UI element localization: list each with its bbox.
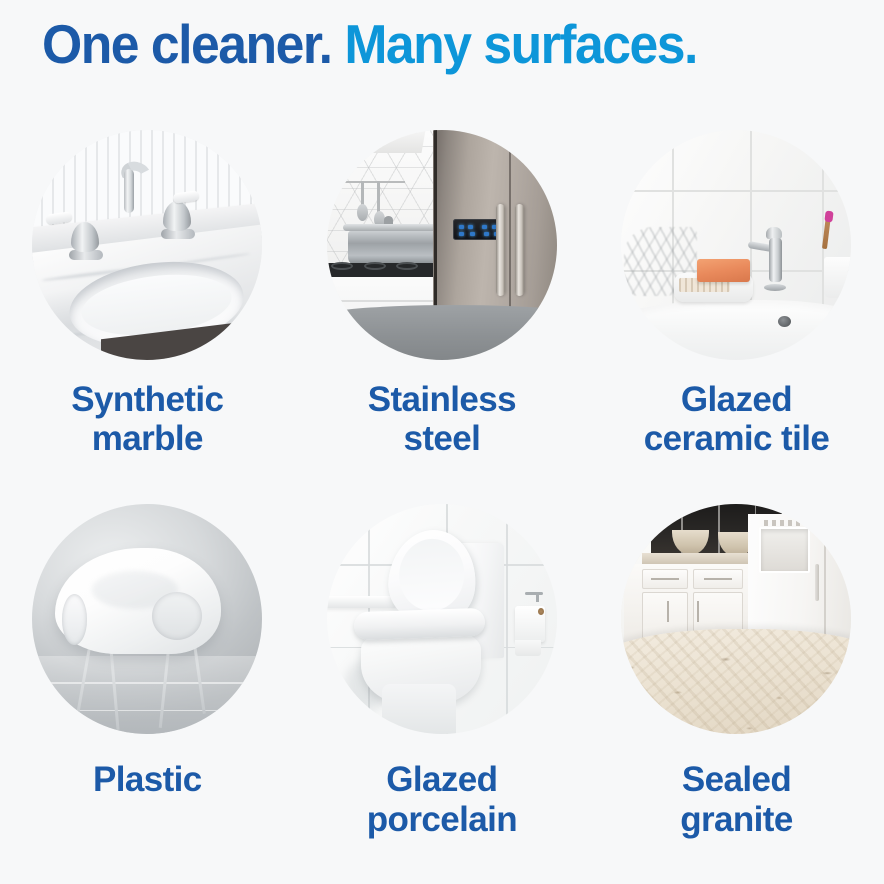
surface-grid: Synthetic marble bbox=[0, 130, 884, 839]
surface-label-glazed-porcelain: Glazed porcelain bbox=[302, 760, 582, 838]
drawer-pull bbox=[704, 578, 732, 580]
stainless-pot bbox=[348, 231, 435, 266]
tile-grout-vertical bbox=[506, 504, 508, 734]
surface-image-plastic bbox=[32, 504, 262, 734]
toilet-pedestal bbox=[382, 684, 456, 735]
label-line-two: ceramic tile bbox=[644, 419, 829, 458]
panel-led bbox=[459, 232, 464, 236]
refrigerator-handle[interactable] bbox=[496, 204, 505, 296]
marble-sink-illustration bbox=[32, 130, 262, 360]
wall-ledge bbox=[327, 596, 396, 608]
ceramic-tile-illustration bbox=[621, 130, 851, 360]
surface-card-plastic[interactable]: Plastic bbox=[0, 504, 295, 838]
plastic-chair-illustration bbox=[32, 504, 262, 734]
porcelain-toilet-illustration bbox=[327, 504, 557, 734]
label-line-two: porcelain bbox=[367, 800, 517, 839]
surface-card-sealed-granite[interactable]: Sealed granite bbox=[589, 504, 884, 838]
surface-label-plastic: Plastic bbox=[7, 760, 287, 799]
label-line-two: marble bbox=[92, 419, 203, 458]
refrigerator-door-split bbox=[509, 130, 511, 319]
surface-card-synthetic-marble[interactable]: Synthetic marble bbox=[0, 130, 295, 458]
panel-led bbox=[468, 225, 473, 229]
panel-led bbox=[484, 232, 489, 236]
stainless-fridge-illustration bbox=[327, 130, 557, 360]
surface-image-stainless-steel bbox=[327, 130, 557, 360]
faucet-lever bbox=[766, 227, 782, 239]
label-line-one: Plastic bbox=[93, 760, 202, 799]
surface-image-sealed-granite bbox=[621, 504, 851, 734]
surface-row-bottom: Plastic bbox=[0, 504, 884, 838]
grout-line-horizontal bbox=[621, 190, 851, 192]
panel-led bbox=[470, 232, 475, 236]
label-line-two: granite bbox=[680, 800, 793, 839]
faucet-spout bbox=[124, 169, 134, 213]
faucet-body bbox=[769, 238, 782, 282]
page-headline: One cleaner. Many surfaces. bbox=[42, 16, 697, 74]
label-line-two: steel bbox=[404, 419, 481, 458]
toilet-seat bbox=[354, 608, 486, 640]
surface-card-glazed-porcelain[interactable]: Glazed porcelain bbox=[295, 504, 590, 838]
toilet-paper-sheet bbox=[515, 640, 540, 656]
soap-bar bbox=[697, 259, 750, 282]
surface-card-glazed-ceramic-tile[interactable]: Glazed ceramic tile bbox=[589, 130, 884, 458]
surface-label-synthetic-marble: Synthetic marble bbox=[7, 380, 287, 458]
label-line-one: Glazed bbox=[386, 760, 497, 799]
grey-countertop bbox=[327, 305, 557, 360]
surface-card-stainless-steel[interactable]: Stainless steel bbox=[295, 130, 590, 458]
panel-led bbox=[459, 225, 464, 229]
sealed-granite-illustration bbox=[621, 504, 851, 734]
range-hood bbox=[338, 130, 426, 153]
label-line-one: Synthetic bbox=[71, 380, 223, 419]
toilet-paper-holder-arm bbox=[536, 592, 539, 602]
label-line-one: Stainless bbox=[368, 380, 516, 419]
surface-label-glazed-ceramic-tile: Glazed ceramic tile bbox=[596, 380, 876, 458]
surface-image-glazed-porcelain bbox=[327, 504, 557, 734]
cabinet-seam bbox=[327, 300, 442, 302]
headline-part-one: One cleaner. bbox=[42, 13, 331, 75]
floor-seam bbox=[32, 710, 262, 712]
floor-surface bbox=[32, 656, 262, 734]
surface-image-synthetic-marble bbox=[32, 130, 262, 360]
toothbrush-cup bbox=[824, 257, 852, 298]
water-dispenser bbox=[759, 527, 810, 573]
surface-label-stainless-steel: Stainless steel bbox=[302, 380, 582, 458]
toothbrush-bristles bbox=[824, 210, 833, 222]
granite-countertop bbox=[621, 629, 851, 735]
refrigerator-handle bbox=[815, 564, 819, 601]
door-pull bbox=[697, 601, 699, 622]
toilet-paper-holder bbox=[525, 592, 543, 595]
door-pull bbox=[667, 601, 669, 622]
refrigerator-door-seam bbox=[824, 514, 826, 647]
dark-tile-grout bbox=[718, 504, 720, 555]
pot-lid-knob bbox=[384, 216, 393, 224]
label-line-one: Glazed bbox=[681, 380, 792, 419]
surface-label-sealed-granite: Sealed granite bbox=[596, 760, 876, 838]
surface-image-glazed-ceramic-tile bbox=[621, 130, 851, 360]
floor-seam bbox=[32, 682, 262, 684]
sink-vanity bbox=[621, 300, 851, 360]
drawer-pull bbox=[651, 578, 679, 580]
dispenser-buttons bbox=[764, 520, 805, 526]
utensil-rail bbox=[345, 181, 405, 183]
refrigerator-edge bbox=[434, 130, 437, 319]
surface-row-top: Synthetic marble bbox=[0, 130, 884, 458]
label-line-one: Sealed bbox=[682, 760, 791, 799]
refrigerator-handle[interactable] bbox=[515, 204, 524, 296]
panel-led bbox=[482, 225, 487, 229]
headline-part-two: Many surfaces. bbox=[331, 13, 696, 75]
